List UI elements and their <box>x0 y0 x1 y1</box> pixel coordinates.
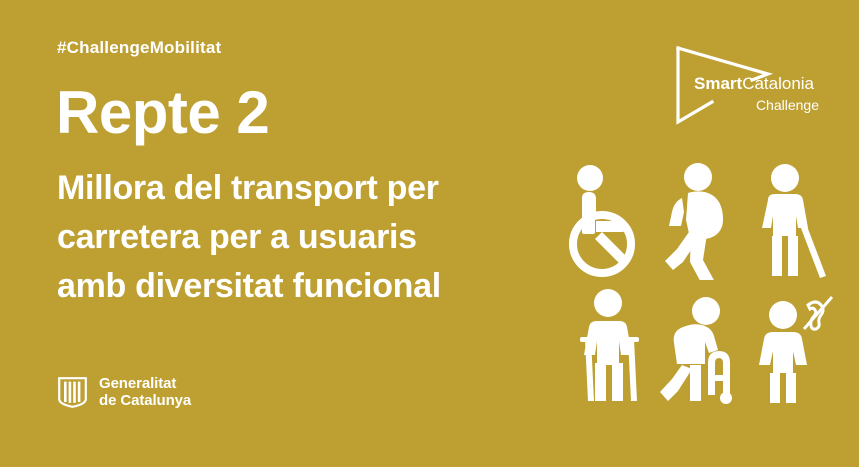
generalitat-shield-icon <box>58 377 87 408</box>
generalitat-line-1: Generalitat <box>99 375 191 392</box>
pregnant-person-icon <box>658 160 746 280</box>
smartcatalonia-tagline: Challenge <box>694 97 819 113</box>
smartcatalonia-word-smart: Smart <box>694 74 742 93</box>
elderly-with-walker-icon <box>658 285 746 405</box>
smartcatalonia-word-catalonia: Catalonia <box>742 74 814 93</box>
challenge-banner: #ChallengeMobilitat Repte 2 Millora del … <box>0 0 859 467</box>
page-title: Repte 2 <box>56 82 269 144</box>
hashtag-label: #ChallengeMobilitat <box>57 38 221 58</box>
subtitle-line-1: Millora del transport per <box>57 164 577 213</box>
wheelchair-user-icon <box>566 160 654 280</box>
generalitat-line-2: de Catalunya <box>99 392 191 409</box>
hearing-impaired-icon <box>750 285 838 405</box>
subtitle: Millora del transport per carretera per … <box>57 164 577 311</box>
subtitle-line-3: amb diversitat funcional <box>57 262 577 311</box>
accessibility-pictogram-grid <box>566 160 846 410</box>
generalitat-logo: Generalitat de Catalunya <box>58 375 191 409</box>
subtitle-line-2: carretera per a usuaris <box>57 213 577 262</box>
generalitat-wordmark: Generalitat de Catalunya <box>99 375 191 409</box>
visually-impaired-cane-icon <box>750 160 838 280</box>
smartcatalonia-wordmark: SmartCatalonia <box>694 74 814 94</box>
smartcatalonia-logo: SmartCatalonia Challenge <box>672 44 824 126</box>
person-with-crutches-icon <box>566 285 654 405</box>
